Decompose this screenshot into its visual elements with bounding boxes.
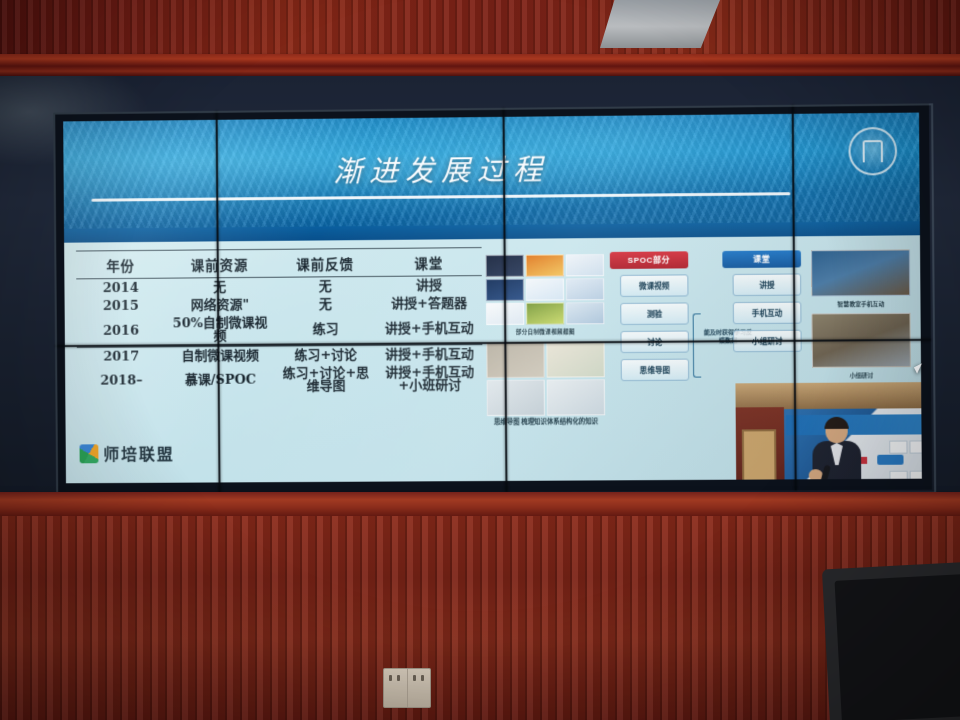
photo-thumbnail	[811, 249, 910, 296]
cell-class: 讲授	[376, 276, 482, 296]
thumbnail	[526, 278, 564, 300]
presenter-hand	[809, 469, 823, 481]
cell-class: 讲授+答题器	[376, 294, 482, 313]
banner-rule	[91, 192, 790, 201]
ceiling-recess-icon	[600, 0, 720, 48]
screenshot-scene: 渐进发展过程 年份 课前资源 课前反馈 课堂 2014无无讲授 2015网络资源…	[0, 0, 960, 720]
university-seal-icon	[848, 127, 897, 176]
cell-resource: 无	[165, 277, 274, 297]
foreground-monitor[interactable]	[822, 561, 960, 720]
cell-year: 2017	[77, 347, 166, 366]
cell-feedback: 练习+讨论+思维导图	[275, 364, 377, 396]
progression-table: 年份 课前资源 课前反馈 课堂 2014无无讲授 2015网络资源"无讲授+答题…	[76, 247, 483, 397]
cell-resource: 自制微课视频	[166, 346, 275, 365]
cell-class: 讲授+手机互动	[376, 345, 482, 364]
thumbnail	[566, 278, 604, 300]
cell-resource: 慕课/SPOC	[166, 365, 276, 397]
col-header-feedback: 课前反馈	[274, 248, 376, 277]
col-header-year: 年份	[76, 250, 165, 279]
inset-card	[909, 440, 921, 453]
molding-lower	[0, 492, 960, 518]
flow-column-classroom: 课堂 讲授 手机互动 小组研讨	[722, 250, 801, 352]
wood-panel-lower	[0, 516, 960, 720]
cell-class: 讲授+手机互动+小班研讨	[377, 363, 483, 395]
thumbnail	[526, 302, 564, 324]
cell-year: 2015	[76, 297, 165, 316]
flow-item: 测验	[620, 302, 688, 325]
flow-header-classroom: 课堂	[722, 250, 801, 268]
presenter-figure	[812, 419, 861, 484]
molding-upper	[0, 54, 960, 76]
table-row: 2018–慕课/SPOC练习+讨论+思维导图讲授+手机互动+小班研讨	[77, 363, 483, 397]
mindmap-thumb	[487, 380, 545, 416]
flow-item: 思维导图	[621, 359, 689, 382]
cell-feedback: 无	[274, 276, 376, 296]
thumbnail	[566, 254, 604, 276]
page-title: 渐进发展过程	[63, 144, 822, 193]
thumbnail	[526, 254, 564, 276]
presenter-hair	[824, 417, 848, 429]
thumbnail	[566, 302, 604, 324]
inset-card	[889, 471, 907, 484]
classroom-photos: 智慧教室手机互动 小组研讨	[811, 249, 911, 384]
flow-item: 讲授	[733, 273, 802, 296]
inset-card	[889, 441, 907, 454]
brand-name: 师培联盟	[103, 441, 174, 465]
cell-class: 讲授+手机互动	[376, 313, 482, 346]
spoc-flowchart: SPOC部分 微课视频 测验 讨论 思维导图 能及时获得学习反馈数据 课堂 讲授…	[610, 250, 801, 252]
col-header-class: 课堂	[376, 248, 482, 277]
mindmap-thumb	[486, 342, 544, 378]
flow-header-spoc: SPOC部分	[610, 251, 688, 269]
flow-item: 手机互动	[733, 302, 802, 325]
inset-wall-frame	[742, 429, 777, 483]
brace-connector	[693, 313, 702, 377]
inset-ceiling	[735, 382, 921, 409]
photo-caption: 智慧教室手机互动	[811, 299, 910, 309]
cell-resource: 网络资源"	[165, 296, 274, 315]
cell-year: 2014	[76, 278, 165, 297]
video-wall[interactable]: 渐进发展过程 年份 课前资源 课前反馈 课堂 2014无无讲授 2015网络资源…	[53, 103, 932, 494]
cell-feedback: 练习	[275, 313, 377, 346]
inset-card	[910, 471, 922, 484]
photo-caption: 小组研讨	[812, 370, 911, 380]
flow-item: 微课视频	[620, 274, 688, 297]
mindmap-thumb	[546, 341, 604, 377]
wood-panel-upper	[0, 0, 960, 60]
flow-column-spoc: SPOC部分 微课视频 测验 讨论 思维导图	[610, 251, 689, 381]
brand-logo: 师培联盟	[80, 441, 175, 465]
cell-resource: 50%自制微课视频	[165, 314, 275, 347]
cell-feedback: 练习+讨论	[275, 345, 377, 364]
cell-year: 2016	[77, 315, 166, 348]
cell-year: 2018–	[77, 366, 166, 398]
wall-outlet-icon[interactable]	[383, 668, 431, 708]
col-header-resource: 课前资源	[165, 249, 275, 278]
table-header-row: 年份 课前资源 课前反馈 课堂	[76, 248, 482, 279]
mindmap-thumb	[547, 379, 605, 415]
cell-feedback: 无	[275, 295, 377, 314]
inset-blue-button	[877, 455, 903, 465]
logo-mark-icon	[80, 444, 99, 463]
presenter-video-inset[interactable]	[735, 382, 921, 483]
